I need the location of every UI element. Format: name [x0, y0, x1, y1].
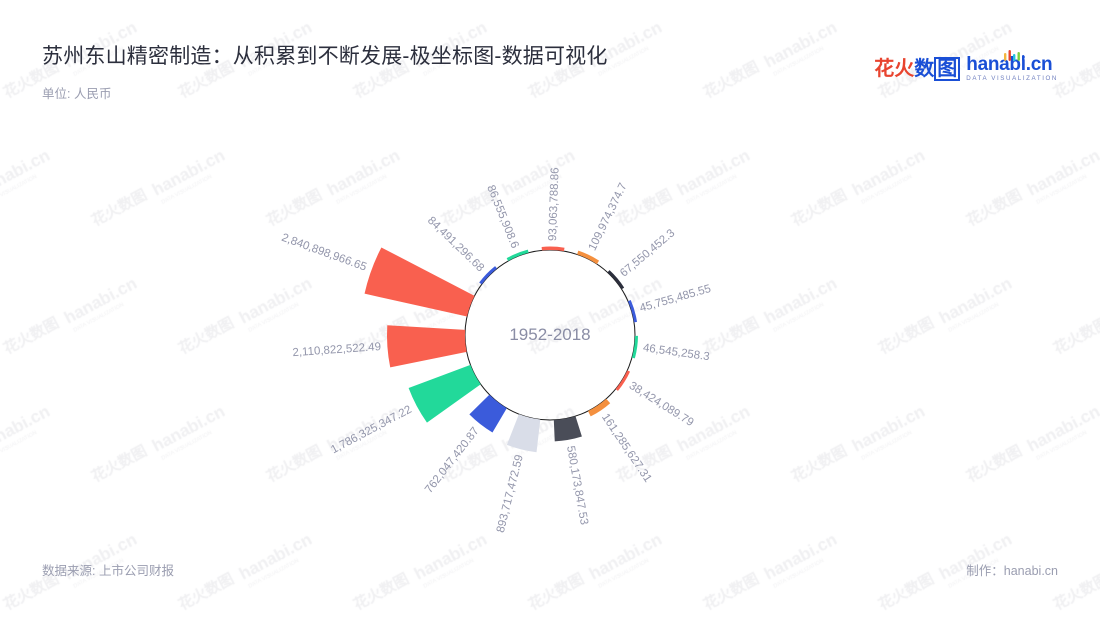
chart-center-label: 1952-2018 [509, 325, 590, 345]
polar-bar-segment[interactable] [365, 247, 475, 316]
polar-bar-segment[interactable] [628, 300, 637, 322]
polar-bar-segment[interactable] [387, 325, 467, 367]
data-source-note: 数据来源: 上市公司财报 [42, 560, 174, 579]
polar-bar-segment[interactable] [632, 336, 638, 359]
credit-note: 制作：hanabi.cn [966, 560, 1058, 579]
polar-bar-segment[interactable] [507, 250, 529, 261]
polar-chart-canvas [0, 0, 1100, 620]
polar-bar-chart: 1952-2018 2,840,898,966.6584,491,296.688… [0, 0, 1100, 620]
polar-bar-segment[interactable] [577, 251, 599, 265]
polar-bar-segment[interactable] [507, 414, 540, 452]
polar-bar-segment[interactable] [554, 416, 582, 441]
